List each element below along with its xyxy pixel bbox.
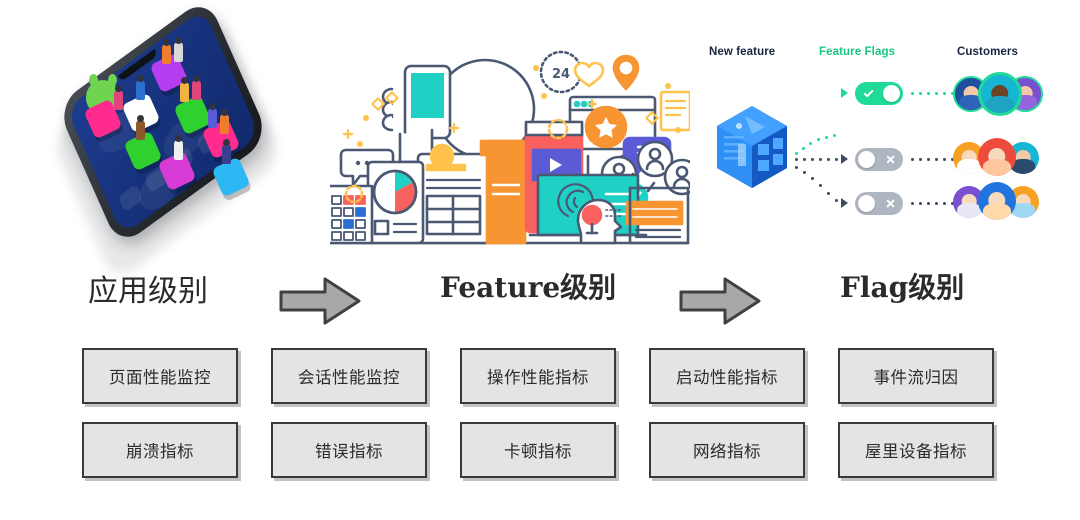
arrow-head — [841, 88, 848, 98]
connector-dots — [795, 166, 841, 168]
toggle-knob — [858, 195, 875, 212]
arrow-head — [841, 198, 848, 208]
customer-avatar-group — [953, 182, 1039, 222]
avatar — [978, 138, 1016, 176]
metric-box[interactable]: 会话性能监控 — [271, 348, 427, 404]
person-figure — [222, 144, 231, 164]
metric-box[interactable]: 崩溃指标 — [82, 422, 238, 478]
person-figure — [208, 108, 217, 128]
toggle-knob — [883, 85, 900, 102]
cross-icon — [884, 153, 897, 166]
arrow-app-to-feature — [278, 276, 362, 326]
customer-avatar-group — [953, 72, 1039, 112]
person-figure — [220, 114, 229, 134]
metric-box[interactable]: 错误指标 — [271, 422, 427, 478]
feature-flag-toggle-off[interactable] — [855, 192, 903, 215]
metric-box[interactable]: 屋里设备指标 — [838, 422, 994, 478]
avatar — [978, 182, 1016, 220]
connector-dots — [795, 134, 841, 136]
person-figure — [174, 42, 183, 62]
person-figure — [136, 80, 145, 100]
toggle-knob — [858, 151, 875, 168]
arrow-feature-to-flag — [678, 276, 762, 326]
illustration-band: 24 — [0, 0, 1080, 250]
person-figure — [136, 120, 145, 140]
metric-box[interactable]: 页面性能监控 — [82, 348, 238, 404]
level-label-feature: Feature级别 — [440, 266, 616, 306]
metric-boxes-grid: 页面性能监控 会话性能监控 操作性能指标 启动性能指标 事件流归因 崩溃指标 错… — [0, 348, 1080, 478]
person-figure — [174, 140, 183, 160]
person-figure — [162, 44, 171, 64]
isometric-smartphone-illustration — [40, 28, 310, 248]
label-feature-flags: Feature Flags — [819, 46, 895, 58]
slide-root: 24 — [0, 0, 1080, 520]
level-label-flag: Flag级别 — [840, 266, 964, 306]
metric-box[interactable]: 卡顿指标 — [460, 422, 616, 478]
level-label-app: 应用级别 — [88, 266, 208, 310]
customer-avatar-group — [953, 138, 1039, 178]
label-new-feature: New feature — [709, 46, 775, 58]
feature-flags-diagram: New feature Feature Flags Customers — [695, 46, 1040, 246]
metric-box[interactable]: 启动性能指标 — [649, 348, 805, 404]
flat-line-art-collage-illustration: 24 — [330, 34, 690, 250]
feature-flag-toggle-off[interactable] — [855, 148, 903, 171]
connector-dots — [795, 158, 841, 160]
arrow-head — [841, 154, 848, 164]
avatar — [978, 72, 1022, 116]
level-labels-row: 应用级别 Feature级别 Flag级别 — [0, 252, 1080, 332]
server-cube-icon — [713, 104, 791, 190]
metric-box[interactable]: 事件流归因 — [838, 348, 994, 404]
check-icon — [862, 87, 875, 100]
person-figure — [114, 90, 123, 110]
person-figure — [192, 80, 201, 100]
cross-icon — [884, 197, 897, 210]
metric-box[interactable]: 网络指标 — [649, 422, 805, 478]
label-customers: Customers — [957, 46, 1018, 58]
metric-box[interactable]: 操作性能指标 — [460, 348, 616, 404]
feature-flag-toggle-on[interactable] — [855, 82, 903, 105]
person-figure — [180, 82, 189, 102]
svg-text:24: 24 — [552, 67, 570, 82]
